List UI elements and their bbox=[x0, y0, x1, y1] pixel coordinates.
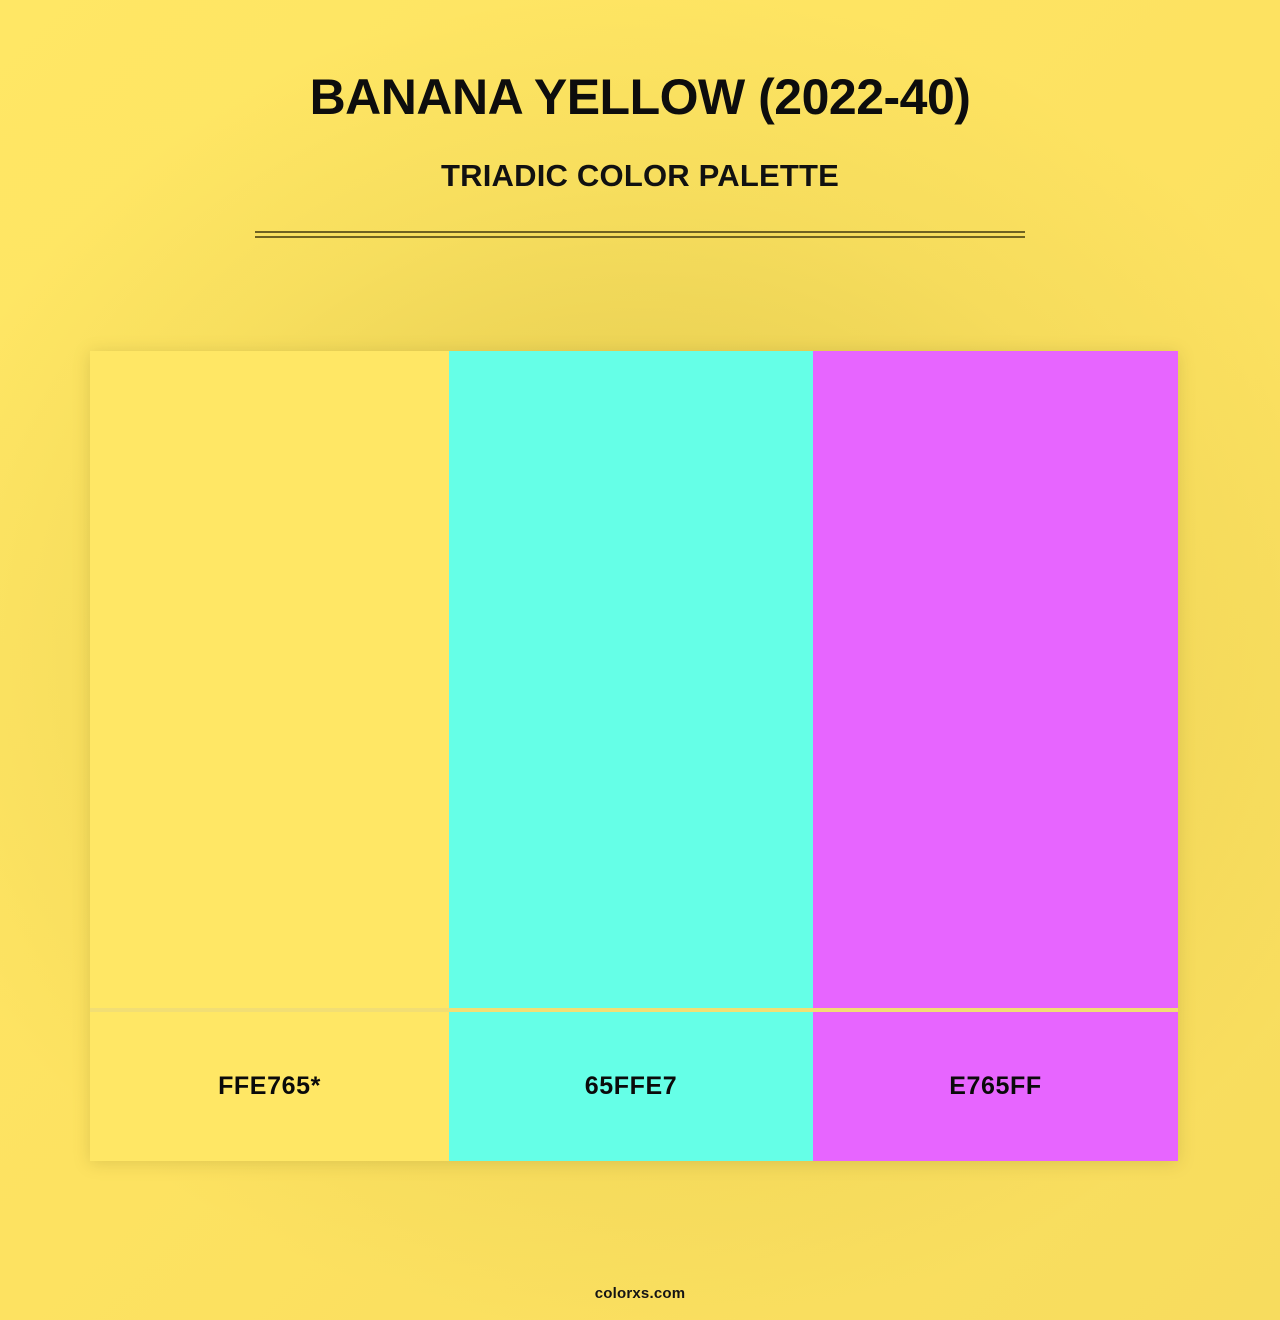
page-subtitle: TRIADIC COLOR PALETTE bbox=[0, 122, 1280, 191]
color-swatch-3[interactable] bbox=[813, 351, 1178, 1008]
swatch-row bbox=[90, 351, 1178, 1008]
hex-code-1: FFE765* bbox=[218, 1072, 321, 1101]
site-watermark: colorxs.com bbox=[595, 1285, 686, 1302]
color-label-cell-2[interactable]: 65FFE7 bbox=[449, 1012, 813, 1161]
hex-code-2: 65FFE7 bbox=[585, 1072, 678, 1101]
color-palette-panel: FFE765* 65FFE7 E765FF bbox=[90, 351, 1178, 1161]
page-footer: colorxs.com bbox=[0, 1285, 1280, 1303]
page-header: BANANA YELLOW (2022-40) TRIADIC COLOR PA… bbox=[0, 0, 1280, 191]
color-swatch-1[interactable] bbox=[90, 351, 449, 1008]
color-label-cell-3[interactable]: E765FF bbox=[813, 1012, 1178, 1161]
divider-line-bottom bbox=[255, 236, 1025, 238]
divider-line-top bbox=[255, 231, 1025, 233]
hex-code-3: E765FF bbox=[949, 1072, 1042, 1101]
color-label-cell-1[interactable]: FFE765* bbox=[90, 1012, 449, 1161]
swatch-label-row: FFE765* 65FFE7 E765FF bbox=[90, 1012, 1178, 1161]
page-title: BANANA YELLOW (2022-40) bbox=[0, 0, 1280, 122]
palette-page: BANANA YELLOW (2022-40) TRIADIC COLOR PA… bbox=[0, 0, 1280, 1320]
header-divider bbox=[255, 231, 1025, 238]
color-swatch-2[interactable] bbox=[449, 351, 813, 1008]
